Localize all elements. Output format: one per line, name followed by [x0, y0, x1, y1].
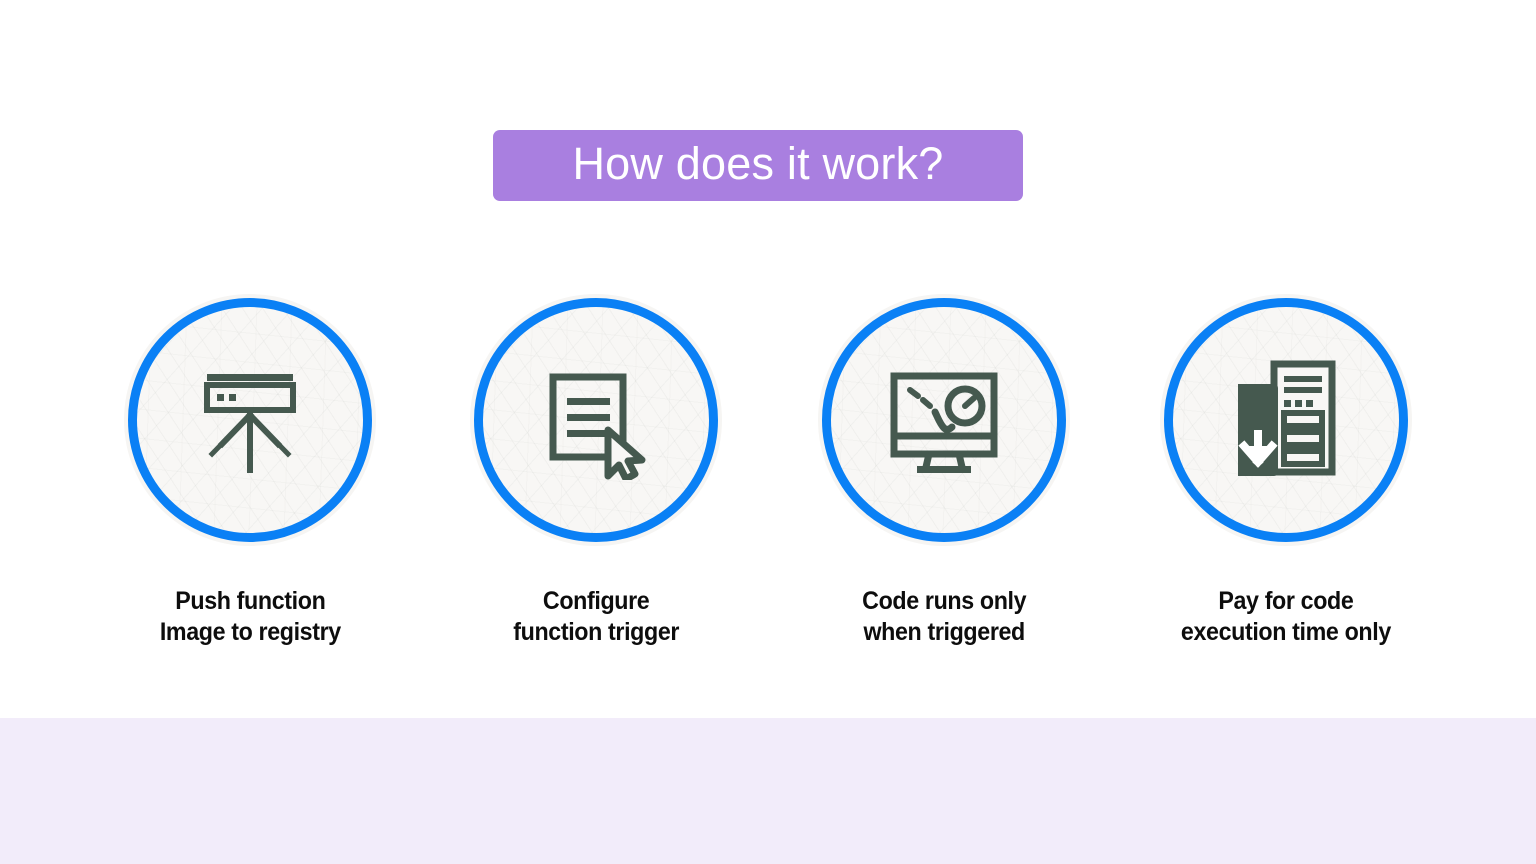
step-caption: Code runs only when triggered: [862, 586, 1026, 648]
caption-line-2: when triggered: [862, 617, 1026, 648]
step-icon-circle: [818, 294, 1070, 546]
slide-canvas: How does it work?: [0, 0, 1536, 864]
title-banner: How does it work?: [493, 130, 1023, 201]
caption-line-1: Configure: [513, 586, 679, 617]
steps-row: Push function Image to registry: [0, 294, 1536, 674]
step-icon-circle: [1160, 294, 1412, 546]
step-item-push-function[interactable]: Push function Image to registry: [85, 294, 415, 648]
step-caption: Configure function trigger: [513, 586, 679, 648]
invoice-download-icon: [1221, 355, 1351, 485]
step-icon-circle: [470, 294, 722, 546]
caption-line-1: Push function: [159, 586, 340, 617]
page-title: How does it work?: [572, 141, 943, 190]
step-icon-circle: [124, 294, 376, 546]
bottom-accent-band: [0, 718, 1536, 864]
caption-line-1: Pay for code: [1181, 586, 1391, 617]
caption-line-2: Image to registry: [159, 617, 340, 648]
step-item-configure-trigger[interactable]: Configure function trigger: [431, 294, 761, 648]
step-item-code-runs[interactable]: Code runs only when triggered: [779, 294, 1109, 648]
step-item-pay-execution[interactable]: Pay for code execution time only: [1121, 294, 1451, 648]
document-cursor-icon: [531, 355, 661, 485]
push-to-registry-icon: [185, 355, 315, 485]
caption-line-2: execution time only: [1181, 617, 1391, 648]
step-caption: Push function Image to registry: [159, 586, 340, 648]
step-caption: Pay for code execution time only: [1181, 586, 1391, 648]
caption-line-2: function trigger: [513, 617, 679, 648]
caption-line-1: Code runs only: [862, 586, 1026, 617]
monitor-clock-icon: [879, 355, 1009, 485]
